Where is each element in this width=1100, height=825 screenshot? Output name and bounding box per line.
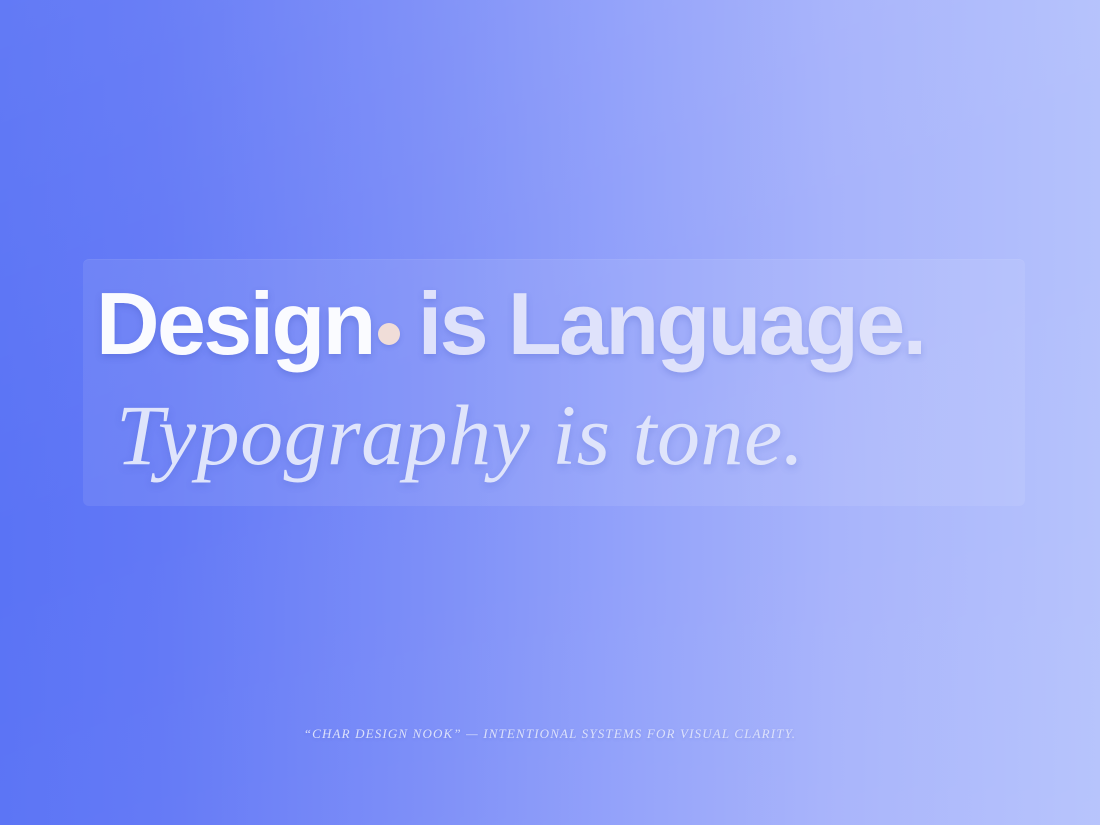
headline-rest-text: is Language.	[418, 280, 925, 368]
accent-dot-icon	[378, 323, 400, 345]
subline-text: Typography is tone.	[116, 382, 1016, 488]
headline-emphasis-word: Design	[96, 280, 374, 368]
headline: Design is Language.	[96, 272, 1026, 376]
footer-caption: “CHAR DESIGN NOOK” — INTENTIONAL SYSTEMS…	[0, 726, 1100, 742]
poster-canvas: Design is Language. Typography is tone. …	[0, 0, 1100, 825]
